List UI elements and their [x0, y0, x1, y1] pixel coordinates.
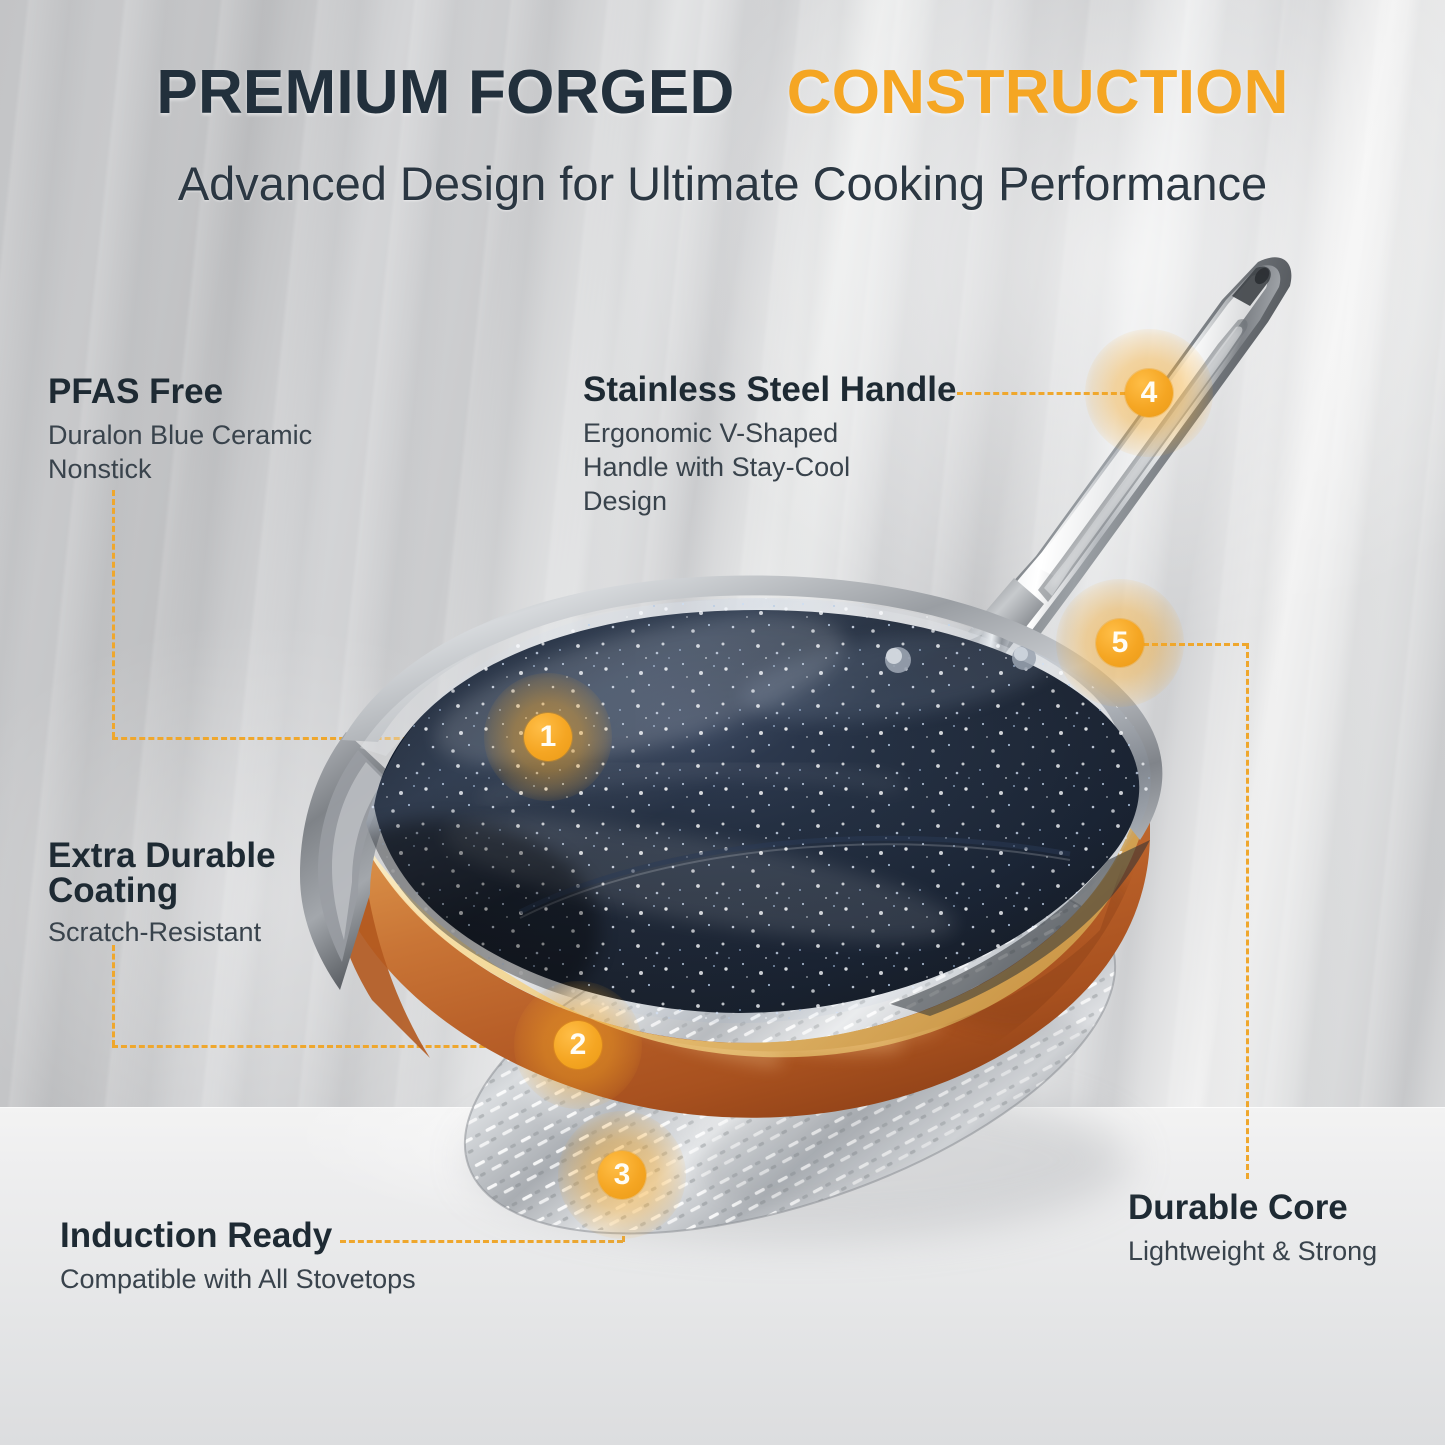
badge-marker-5[interactable]: 5	[1096, 619, 1144, 667]
product-illustration-frying-pan	[0, 0, 1445, 1445]
badge-marker-1[interactable]: 1	[524, 713, 572, 761]
badge-marker-2[interactable]: 2	[554, 1021, 602, 1069]
infographic-canvas: PREMIUM FORGED CONSTRUCTION Advanced Des…	[0, 0, 1445, 1445]
badge-marker-4[interactable]: 4	[1125, 369, 1173, 417]
badge-marker-3[interactable]: 3	[598, 1151, 646, 1199]
